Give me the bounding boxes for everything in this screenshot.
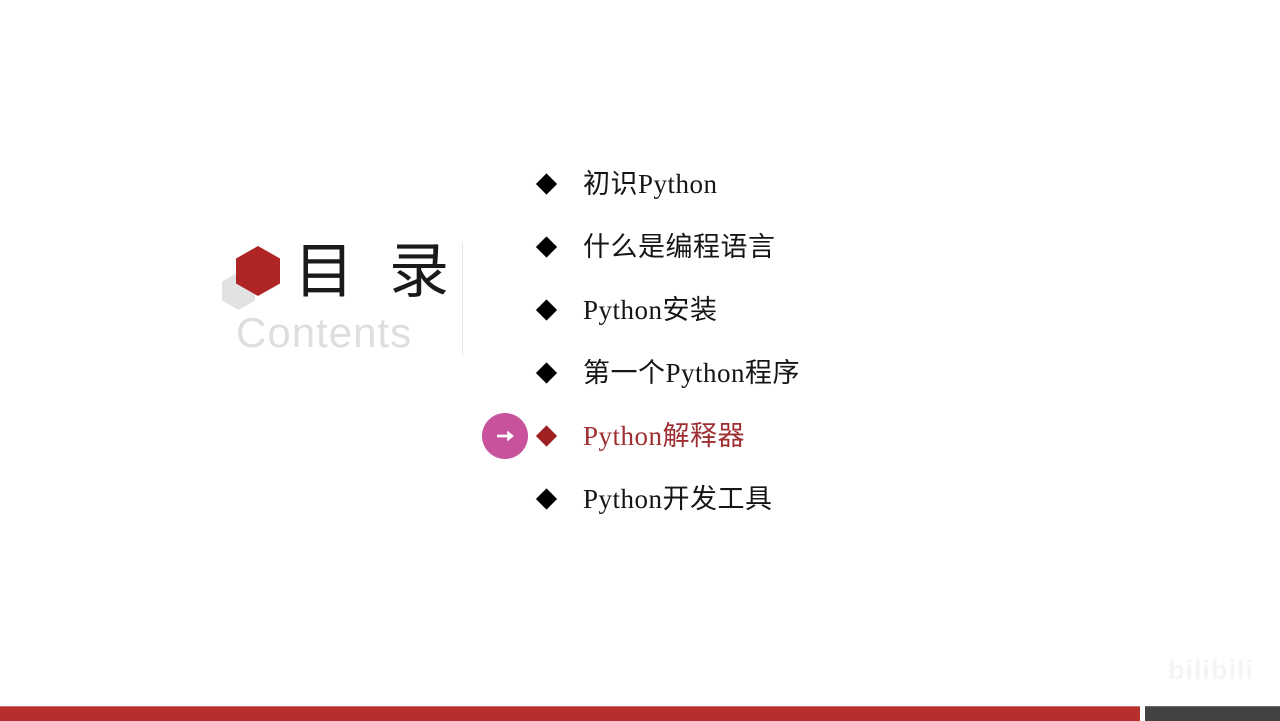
diamond-bullet-icon [536,173,557,194]
page-title-en: Contents [236,310,412,356]
toc-item-4-active[interactable]: Python解释器 [478,404,908,467]
diamond-bullet-icon [536,299,557,320]
diamond-bullet-icon [536,488,557,509]
toc-item-2[interactable]: Python安装 [478,278,908,341]
toc-item-3[interactable]: 第一个Python程序 [478,341,908,404]
toc-item-1[interactable]: 什么是编程语言 [478,215,908,278]
toc-item-label: Python开发工具 [583,483,773,515]
footer-bar-red [0,706,1140,721]
toc-item-label: 初识Python [583,168,718,200]
toc-marker-slot-0 [478,157,532,211]
toc-marker-slot-5 [478,472,532,526]
toc-item-label: 什么是编程语言 [583,231,776,263]
bilibili-watermark: bilibili [1168,655,1254,686]
footer-bar-gray [1145,706,1280,721]
toc-list: 初识Python 什么是编程语言 Python安装 第一个Python程序 [478,152,908,530]
toc-item-label: Python安装 [583,294,718,326]
hexagon-logo-icon [222,246,284,308]
diamond-bullet-icon [536,236,557,257]
toc-marker-slot-2 [478,283,532,337]
page-title-cn: 目 录 [294,240,459,304]
toc-marker-slot-1 [478,220,532,274]
title-block: 目 录 Contents [222,238,462,358]
toc-item-label: 第一个Python程序 [583,357,800,389]
vertical-divider [462,243,463,355]
diamond-bullet-icon [536,362,557,383]
toc-item-label: Python解释器 [583,420,745,452]
arrow-right-circle-icon [482,413,528,459]
toc-item-0[interactable]: 初识Python [478,152,908,215]
toc-item-5[interactable]: Python开发工具 [478,467,908,530]
toc-marker-slot-4 [478,409,532,463]
slide-canvas: 目 录 Contents 初识Python 什么是编程语言 Python安装 第… [0,0,1280,720]
diamond-bullet-icon-active [536,425,557,446]
toc-marker-slot-3 [478,346,532,400]
